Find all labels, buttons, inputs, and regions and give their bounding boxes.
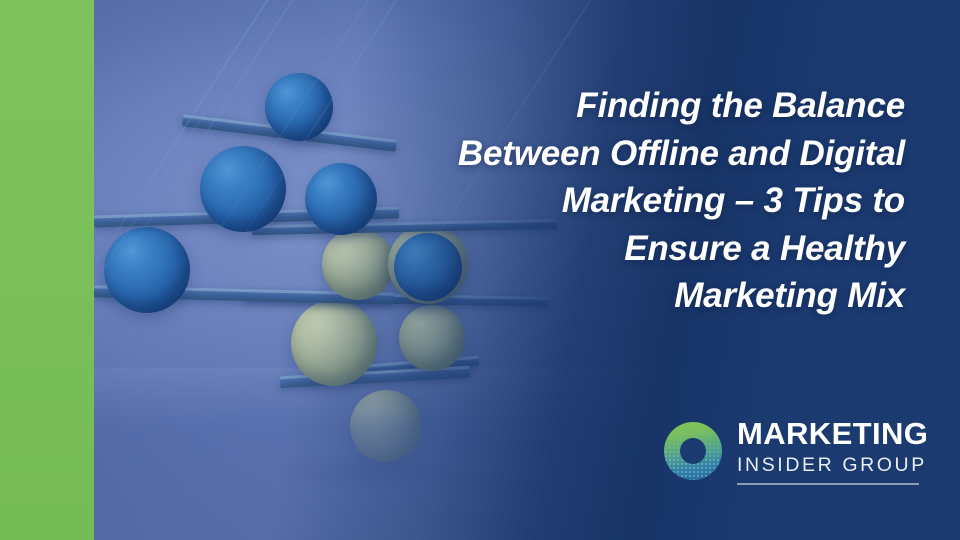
logo-primary-text: MARKETING (737, 418, 928, 449)
page-title: Finding the Balance Between Offline and … (435, 82, 905, 320)
ring-logo-icon (664, 422, 722, 480)
title-line-4: Ensure a Healthy (435, 225, 905, 273)
brand-logo: MARKETING INSIDER GROUP (664, 418, 928, 485)
streak-line (94, 0, 395, 540)
title-line-5: Marketing Mix (435, 272, 905, 320)
logo-secondary-text: INSIDER GROUP (737, 456, 928, 476)
presentation-slide: Finding the Balance Between Offline and … (0, 0, 960, 540)
title-line-3: Marketing – 3 Tips to (435, 177, 905, 225)
left-green-accent-bar (0, 0, 94, 540)
logo-wordmark: MARKETING INSIDER GROUP (737, 418, 928, 485)
title-line-1: Finding the Balance (435, 82, 905, 130)
logo-underline (737, 483, 919, 485)
title-line-2: Between Offline and Digital (435, 130, 905, 178)
